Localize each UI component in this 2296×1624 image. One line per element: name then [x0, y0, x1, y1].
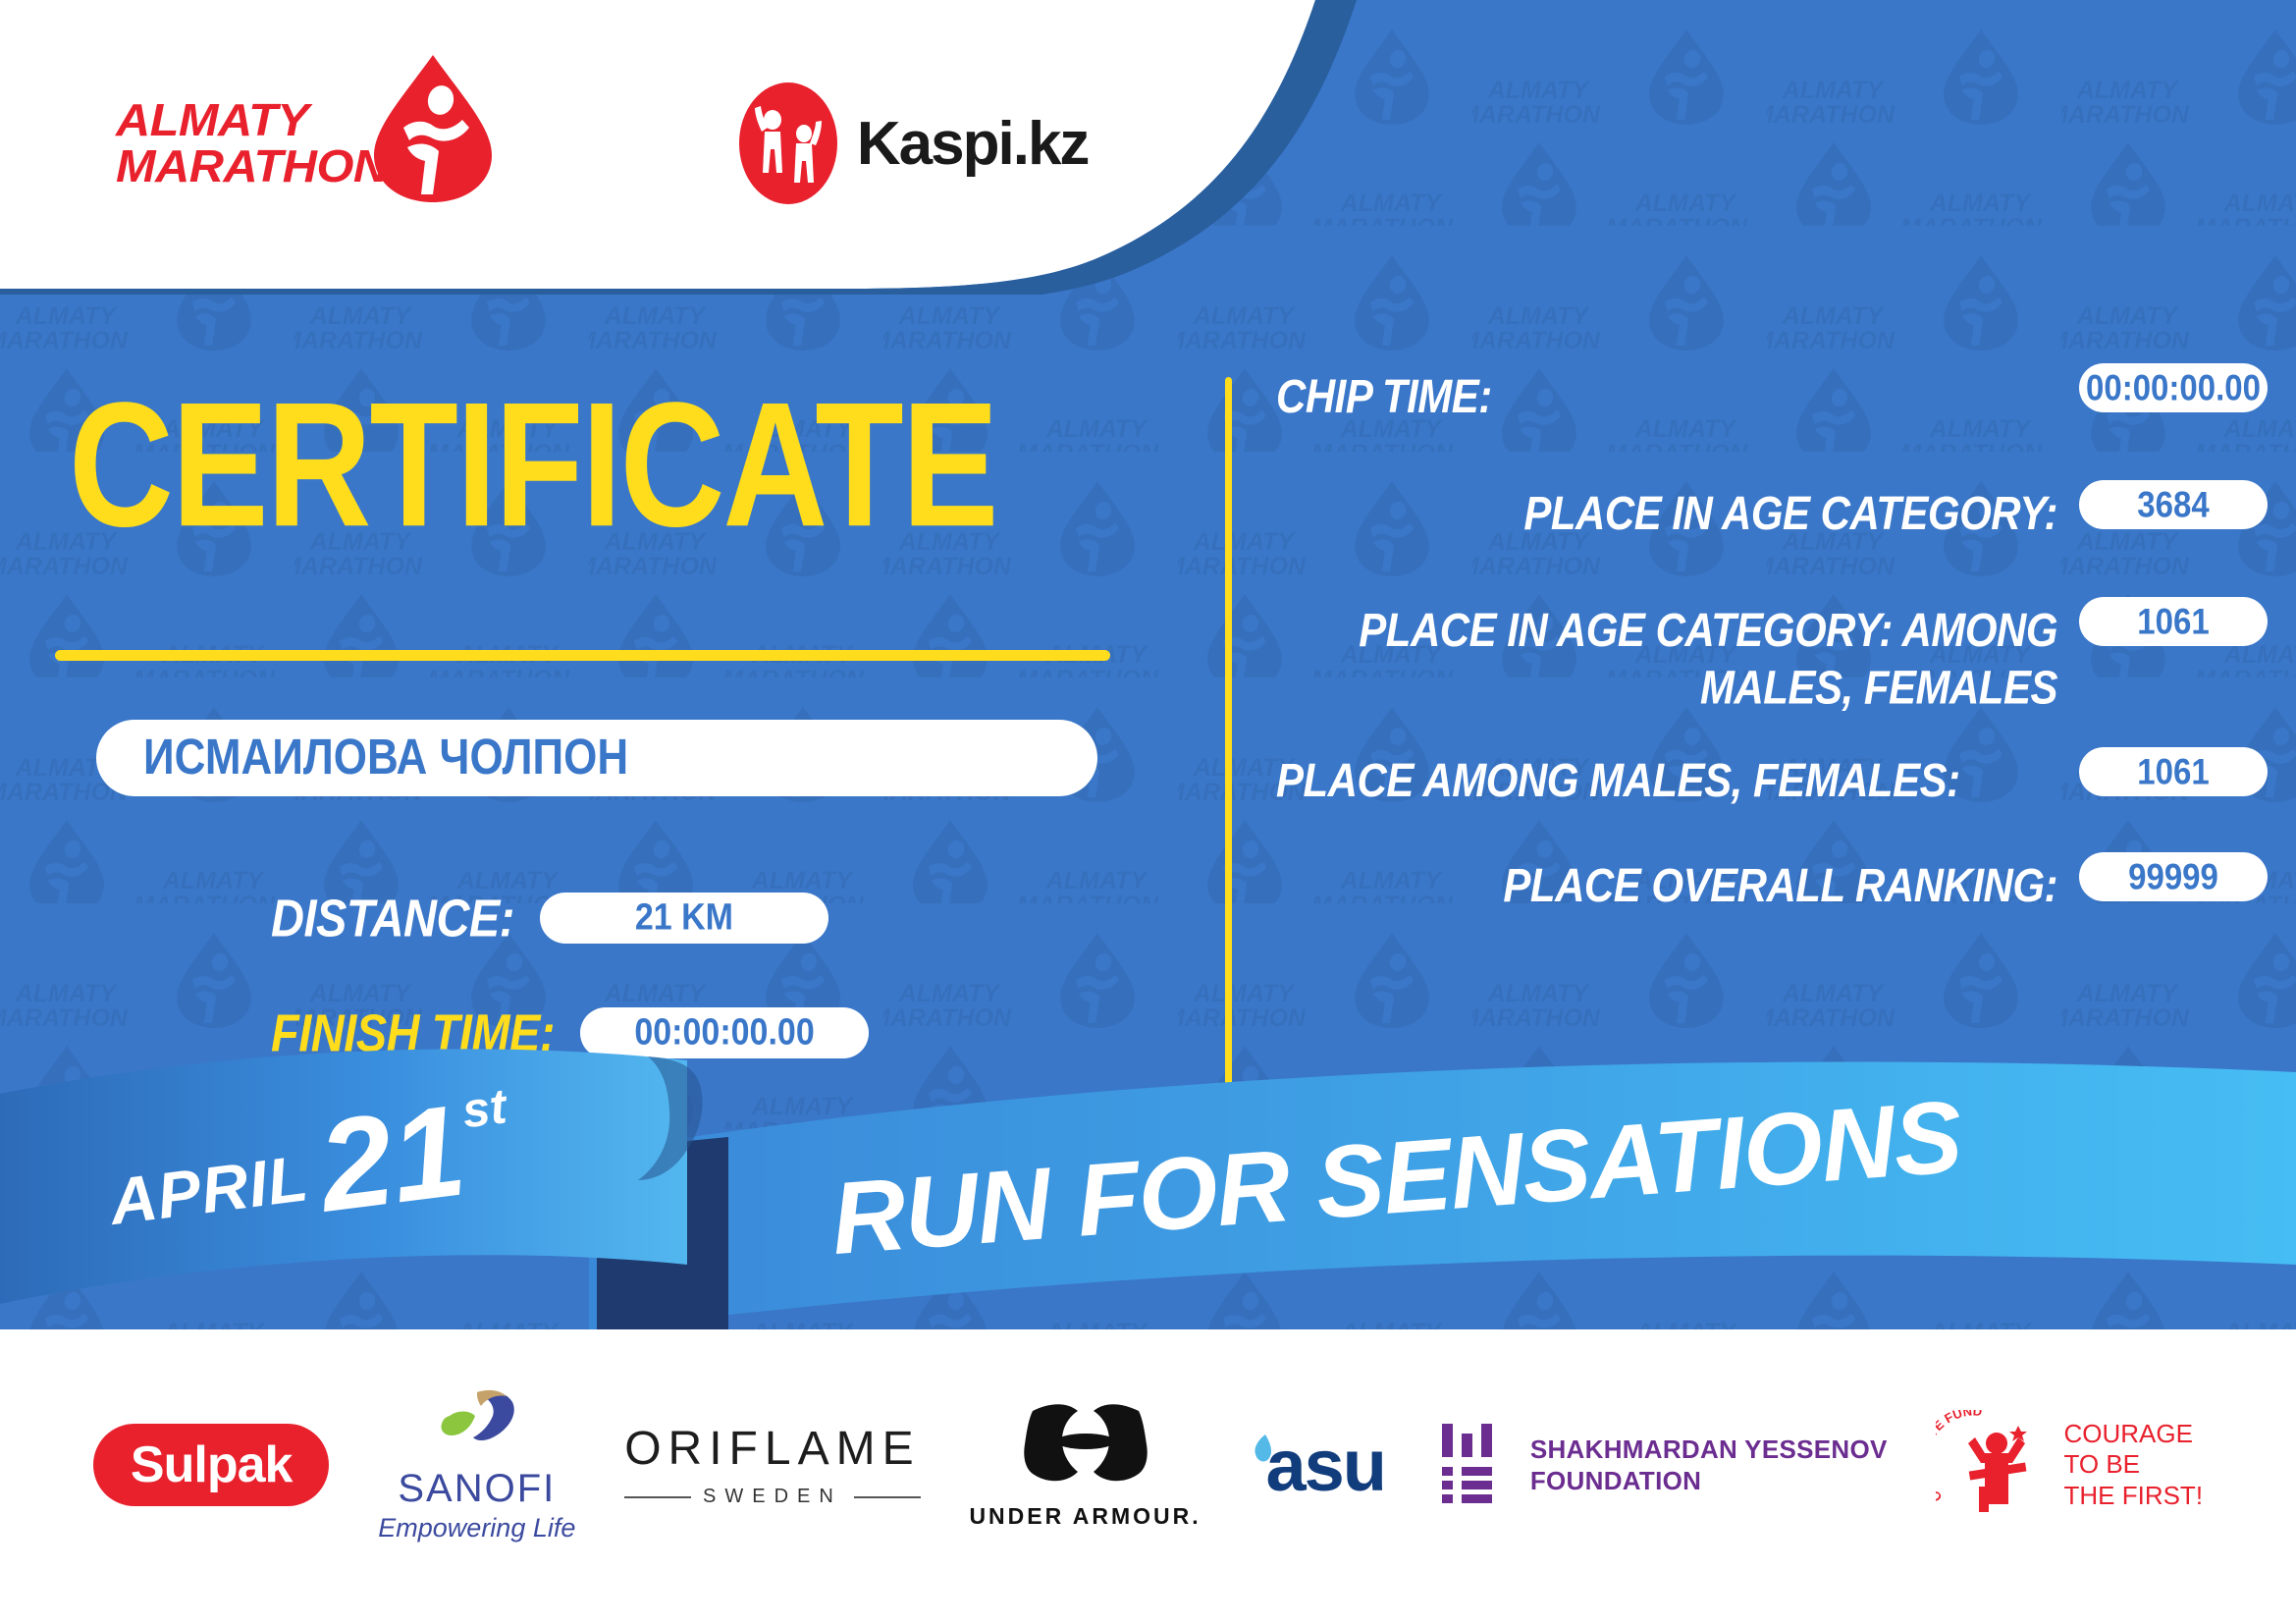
distance-value-pill: 21 KM — [540, 893, 828, 944]
stat-row-place-age-category-among: PLACE IN AGE CATEGORY: AMONG MALES, FEMA… — [1276, 597, 2268, 701]
sanofi-wordmark: SANOFI — [398, 1467, 556, 1511]
place-among-males-females-value-pill: 1061 — [2079, 747, 2268, 796]
distance-row: DISTANCE: 21 KM — [271, 891, 1217, 945]
almaty-logo-line1: ALMATY — [116, 97, 388, 143]
yessenov-bars-icon — [1434, 1420, 1511, 1510]
almaty-marathon-wordmark: ALMATY MARATHON — [116, 97, 388, 189]
place-age-category-value: 3684 — [2137, 484, 2209, 526]
sanofi-tagline: Empowering Life — [378, 1513, 575, 1543]
oriflame-rule-left — [624, 1496, 691, 1498]
place-age-category-value-pill: 3684 — [2079, 480, 2268, 529]
stat-row-place-age-category: PLACE IN AGE CATEGORY: 3684 — [1276, 480, 2268, 534]
sponsor-sanofi: SANOFI Empowering Life — [378, 1386, 575, 1543]
yessenov-line1: SHAKHMARDAN YESSENOV — [1530, 1435, 1888, 1464]
svg-text:CORPORATE FUND: CORPORATE FUND — [1936, 1410, 1983, 1505]
sponsor-bar: Sulpak SANOFI Empowering Life ORIFLAME S… — [0, 1329, 2296, 1624]
under-armour-icon — [1023, 1401, 1148, 1495]
sponsor-asu: asu — [1250, 1424, 1385, 1507]
kaspi-logo: Kaspi.kz — [733, 79, 1089, 208]
oriflame-sub: SWEDEN — [624, 1486, 920, 1508]
participant-name-field: ИСМАИЛОВА ЧОЛПОН — [96, 720, 1097, 796]
page-title: CERTIFICATE — [69, 377, 1217, 555]
almaty-marathon-logo: ALMATY MARATHON — [116, 51, 498, 236]
stat-row-place-overall-ranking: PLACE OVERALL RANKING: 99999 — [1276, 852, 2268, 906]
oriflame-wordmark: ORIFLAME — [624, 1422, 920, 1476]
under-armour-wordmark: UNDER ARMOUR. — [969, 1503, 1201, 1530]
event-month: APRIL — [105, 1140, 312, 1239]
sponsor-yessenov-foundation: SHAKHMARDAN YESSENOV FOUNDATION — [1434, 1420, 1888, 1510]
oriflame-country: SWEDEN — [703, 1486, 842, 1508]
sanofi-mark-icon — [432, 1386, 522, 1463]
chip-time-value: 00:00:00.00 — [2086, 367, 2261, 409]
event-day: 21 — [314, 1097, 470, 1220]
distance-value: 21 KM — [635, 896, 733, 940]
place-overall-ranking-value-pill: 99999 — [2079, 852, 2268, 901]
courage-fund-figure-icon: CORPORATE FUND — [1936, 1410, 2052, 1520]
stat-row-chip-time: CHIP TIME: 00:00:00.00 — [1276, 363, 2268, 417]
place-among-males-females-label: PLACE AMONG MALES, FEMALES: — [1276, 747, 2057, 809]
sponsor-sulpak: Sulpak — [93, 1424, 330, 1506]
place-overall-ranking-value: 99999 — [2128, 856, 2218, 898]
certificate-canvas: ALMATY MARATHON Kaspi.kz — [0, 0, 2296, 1624]
sulpak-logo: Sulpak — [93, 1424, 330, 1506]
courage-line2: TO BE — [2063, 1449, 2140, 1479]
courage-wordmark: COURAGE TO BE THE FIRST! — [2063, 1419, 2203, 1511]
stat-row-place-among-males-females: PLACE AMONG MALES, FEMALES: 1061 — [1276, 747, 2268, 801]
sponsor-oriflame: ORIFLAME SWEDEN — [624, 1422, 920, 1508]
participant-name-value: ИСМАИЛОВА ЧОЛПОН — [143, 730, 628, 786]
asu-wordmark: asu — [1265, 1424, 1385, 1507]
courage-line1: COURAGE — [2063, 1419, 2192, 1448]
place-age-category-among-value-pill: 1061 — [2079, 597, 2268, 646]
kaspi-person-icon — [733, 79, 843, 208]
courage-arc-text: CORPORATE FUND — [1936, 1410, 1983, 1505]
chip-time-value-pill: 00:00:00.00 — [2079, 363, 2268, 412]
sponsor-courage-to-be-the-first: CORPORATE FUND COURAGE TO BE THE FIRST! — [1936, 1410, 2203, 1520]
place-age-category-label: PLACE IN AGE CATEGORY: — [1276, 480, 2057, 542]
kaspi-wordmark: Kaspi.kz — [857, 109, 1089, 179]
yessenov-wordmark: SHAKHMARDAN YESSENOV FOUNDATION — [1530, 1434, 1888, 1497]
sponsor-under-armour: UNDER ARMOUR. — [969, 1401, 1201, 1530]
place-age-category-among-label: PLACE IN AGE CATEGORY: AMONG MALES, FEMA… — [1276, 597, 2057, 716]
almaty-logo-line2: MARATHON — [116, 143, 388, 189]
courage-line3: THE FIRST! — [2063, 1481, 2203, 1510]
almaty-marathon-runner-drop-icon — [368, 51, 498, 206]
title-underline-rule — [55, 650, 1110, 661]
distance-label: DISTANCE: — [271, 887, 514, 948]
certificate-stats-panel: CHIP TIME: 00:00:00.00 PLACE IN AGE CATE… — [1276, 363, 2268, 942]
certificate-left-panel: CERTIFICATE ИСМАИЛОВА ЧОЛПОН DISTANCE: 2… — [0, 287, 1217, 1059]
header-logos: ALMATY MARATHON Kaspi.kz — [0, 0, 1178, 287]
yessenov-line2: FOUNDATION — [1530, 1466, 1701, 1495]
place-overall-ranking-label: PLACE OVERALL RANKING: — [1276, 852, 2057, 914]
place-among-males-females-value: 1061 — [2137, 751, 2209, 793]
sulpak-wordmark: Sulpak — [131, 1436, 293, 1493]
vertical-divider — [1225, 377, 1232, 1106]
event-day-suffix: st — [459, 1077, 509, 1139]
chip-time-label: CHIP TIME: — [1276, 363, 2057, 425]
oriflame-rule-right — [854, 1496, 921, 1498]
place-age-category-among-value: 1061 — [2137, 601, 2209, 643]
